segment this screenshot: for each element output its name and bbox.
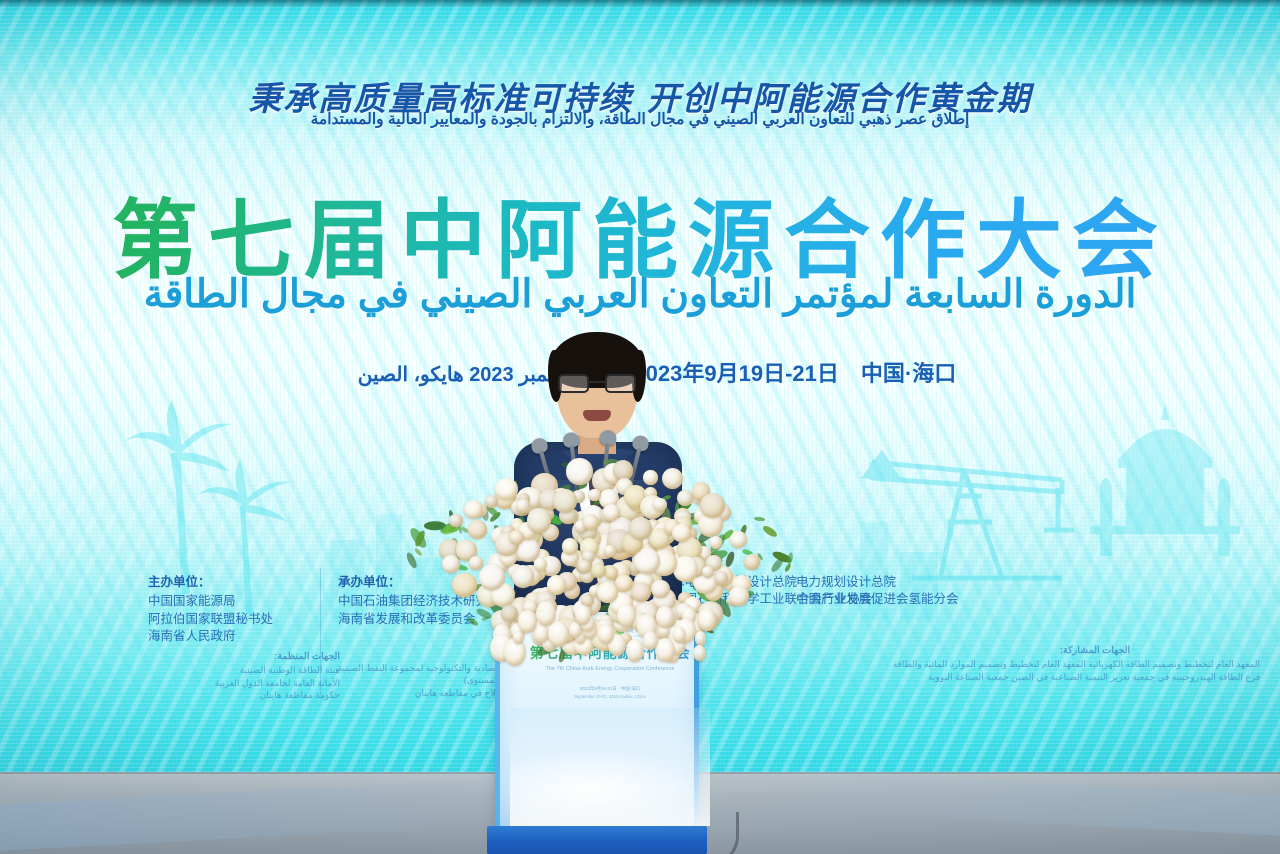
rose-bloom	[578, 560, 591, 573]
oil-pumpjack-graphic	[852, 418, 1112, 588]
organizers-heading-arabic: الجهات المنظمة:	[150, 650, 340, 663]
organizers-block: 主办单位： 中国国家能源局 阿拉伯国家联盟秘书处 海南省人民政府	[148, 574, 273, 645]
podium-sign-date-english: September 19-21, 2023 Haikou, China	[520, 694, 700, 699]
rose-bloom	[588, 489, 600, 501]
speaker-eyebrow-right	[608, 366, 635, 370]
rose-bloom	[518, 610, 537, 634]
organizers-line-2: 阿拉伯国家联盟秘书处	[148, 611, 273, 628]
rose-bloom	[509, 530, 524, 545]
rose-bloom	[698, 608, 716, 631]
foliage-leaf	[753, 516, 764, 522]
conference-title-arabic: الدورة السابعة لمؤتمر التعاون العربي الص…	[0, 272, 1280, 317]
rose-bloom	[566, 458, 592, 484]
speaker-eyebrow-left	[559, 366, 586, 370]
rose-bloom	[575, 605, 591, 625]
rose-bloom	[710, 536, 723, 549]
floor-reflection-left	[0, 775, 560, 850]
rose-bloom	[693, 645, 706, 661]
rose-bloom	[631, 582, 651, 602]
rose-bloom	[583, 514, 599, 530]
rose-bloom	[695, 631, 707, 645]
podium-wave-graphic	[510, 708, 710, 826]
rose-bloom	[629, 517, 652, 540]
podium-base	[487, 826, 707, 854]
supporters-col2-line-2: 中国产业发展促进会氢能分会	[796, 591, 959, 608]
top-shadow	[0, 0, 1280, 8]
rose-bloom	[729, 586, 749, 606]
rose-bloom	[495, 478, 517, 500]
rose-bloom	[677, 490, 693, 506]
rose-bloom	[626, 639, 644, 661]
rose-bloom	[643, 470, 657, 484]
rose-bloom	[673, 556, 698, 581]
flower-arrangement	[428, 468, 772, 646]
rose-bloom	[653, 498, 666, 511]
rose-bloom	[744, 554, 760, 570]
rose-bloom	[442, 555, 460, 573]
participants-heading-arabic: الجهات المشاركة:	[930, 644, 1260, 657]
podium-cable	[693, 812, 739, 854]
participants-block-arabic: الجهات المشاركة: المعهد العام لتخطيط وتص…	[930, 644, 1260, 683]
eyeglass-lens-right	[605, 374, 636, 393]
rose-bloom	[527, 508, 551, 532]
supporters-column-2: 电力规划设计总院 中国产业发展促进会氢能分会	[796, 574, 959, 609]
backdrop-banner-arabic: إطلاق عصر ذهبي للتعاون العربي الصيني في …	[0, 110, 1280, 129]
conference-stage-photo: 秉承高质量高标准可持续 开创中阿能源合作黄金期 إطلاق عصر ذهبي ل…	[0, 0, 1280, 854]
organizers-block-arabic: الجهات المنظمة: هيئة الطاقة الوطنية الصي…	[150, 650, 340, 701]
rose-bloom	[604, 545, 616, 557]
eyeglass-lens-left	[558, 374, 589, 393]
podium-sign-title-english: The 7th China-Arab Energy Cooperation Co…	[520, 666, 700, 672]
foliage-leaf	[465, 616, 479, 627]
podium-sign-date-chinese: 2023年9月19-21日 中国·海口	[520, 686, 700, 692]
rose-bloom	[548, 621, 569, 647]
supporters-col2-line-1: 电力规划设计总院	[796, 574, 959, 591]
rose-bloom	[547, 575, 567, 595]
rose-bloom	[651, 580, 669, 598]
organizers-line-1: 中国国家能源局	[148, 593, 273, 610]
organizers-heading: 主办单位：	[148, 574, 273, 591]
rose-bloom	[513, 631, 523, 644]
organizers-arabic-line-3: حكومة مقاطعة هاينان	[150, 689, 340, 701]
organizers-arabic-line-1: هيئة الطاقة الوطنية الصينية	[150, 664, 340, 676]
rose-bloom	[562, 538, 579, 555]
rose-bloom	[452, 573, 477, 598]
rose-bloom	[603, 504, 620, 521]
mosque-dome-graphic	[1060, 396, 1270, 586]
rose-bloom	[662, 468, 683, 489]
floor-reflection-right	[760, 768, 1280, 835]
participants-arabic-line-1: المعهد العام لتخطيط وتصميم الطاقة الكهرب…	[930, 658, 1260, 670]
rose-bloom	[597, 582, 618, 603]
participants-arabic-line-2: فرع الطاقة الهيدروجينية في جمعية تعزيز ا…	[930, 671, 1260, 683]
rose-bloom	[485, 495, 499, 509]
rose-bloom	[468, 520, 487, 539]
speaker-eyeglasses	[558, 374, 636, 394]
rose-bloom	[672, 524, 690, 542]
organizers-line-3: 海南省人民政府	[148, 628, 273, 645]
rose-bloom	[715, 571, 729, 585]
rose-bloom	[479, 564, 505, 590]
rose-bloom	[534, 558, 547, 571]
rose-bloom	[656, 606, 673, 627]
eyeglass-bridge	[589, 381, 605, 383]
speaker-mouth	[583, 410, 611, 421]
rose-bloom	[730, 531, 747, 548]
rose-bloom	[553, 489, 577, 513]
rose-bloom	[617, 604, 635, 627]
organizers-arabic-line-2: الأمانة العامة لجامعة الدول العربية	[150, 677, 340, 689]
rose-bloom	[598, 624, 614, 644]
